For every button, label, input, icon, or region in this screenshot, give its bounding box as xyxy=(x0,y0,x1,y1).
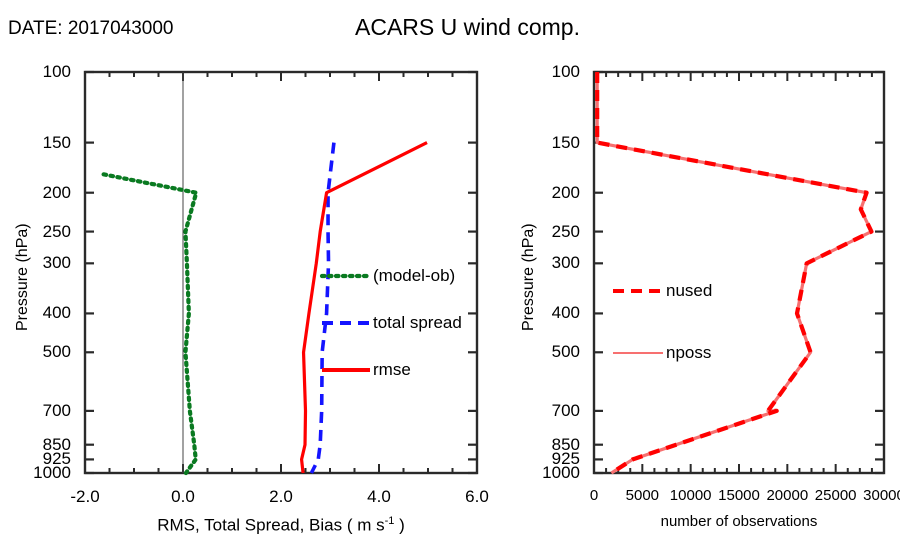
right-x-tick-label: 20000 xyxy=(766,487,808,504)
right-x-tick-label: 25000 xyxy=(815,487,857,504)
left-x-tick-label: 0.0 xyxy=(171,487,195,507)
left-legend-item-label: total spread xyxy=(373,313,462,333)
left-y-tick-label: 150 xyxy=(19,133,71,153)
right-x-tick-label: 30000 xyxy=(863,487,900,504)
series-model-ob xyxy=(104,174,197,473)
right-y-tick-label: 100 xyxy=(528,62,580,82)
right-x-axis-title: number of observations xyxy=(661,513,818,530)
right-legend-item-label: nused xyxy=(666,281,712,301)
right-x-tick-label: 0 xyxy=(590,487,598,504)
left-x-axis-title: RMS, Total Spread, Bias ( m s-1 ) xyxy=(157,515,405,536)
left-x-tick-label: 6.0 xyxy=(465,487,489,507)
right-x-tick-label: 15000 xyxy=(718,487,760,504)
left-y-tick-label: 500 xyxy=(19,342,71,362)
left-x-tick-label: -2.0 xyxy=(70,487,99,507)
series-rmse xyxy=(302,143,427,473)
left-y-tick-label: 1000 xyxy=(19,463,71,483)
right-x-tick-label: 5000 xyxy=(626,487,659,504)
series-nposs xyxy=(597,72,871,473)
left-y-tick-label: 700 xyxy=(19,401,71,421)
left-y-tick-label: 100 xyxy=(19,62,71,82)
right-axes-frame xyxy=(594,72,884,473)
series-nused xyxy=(597,72,871,473)
left-y-tick-label: 200 xyxy=(19,183,71,203)
right-y-tick-label: 700 xyxy=(528,401,580,421)
right-x-tick-label: 10000 xyxy=(670,487,712,504)
right-y-tick-label: 150 xyxy=(528,133,580,153)
left-legend-item-label: (model-ob) xyxy=(373,266,455,286)
right-legend-item-label: nposs xyxy=(666,343,711,363)
left-x-tick-label: 2.0 xyxy=(269,487,293,507)
left-y-axis-title: Pressure (hPa) xyxy=(14,223,32,331)
right-y-tick-label: 500 xyxy=(528,342,580,362)
right-y-axis-title: Pressure (hPa) xyxy=(520,223,538,331)
left-x-tick-label: 4.0 xyxy=(367,487,391,507)
left-legend-item-label: rmse xyxy=(373,360,411,380)
right-y-tick-label: 1000 xyxy=(528,463,580,483)
right-y-tick-label: 200 xyxy=(528,183,580,203)
